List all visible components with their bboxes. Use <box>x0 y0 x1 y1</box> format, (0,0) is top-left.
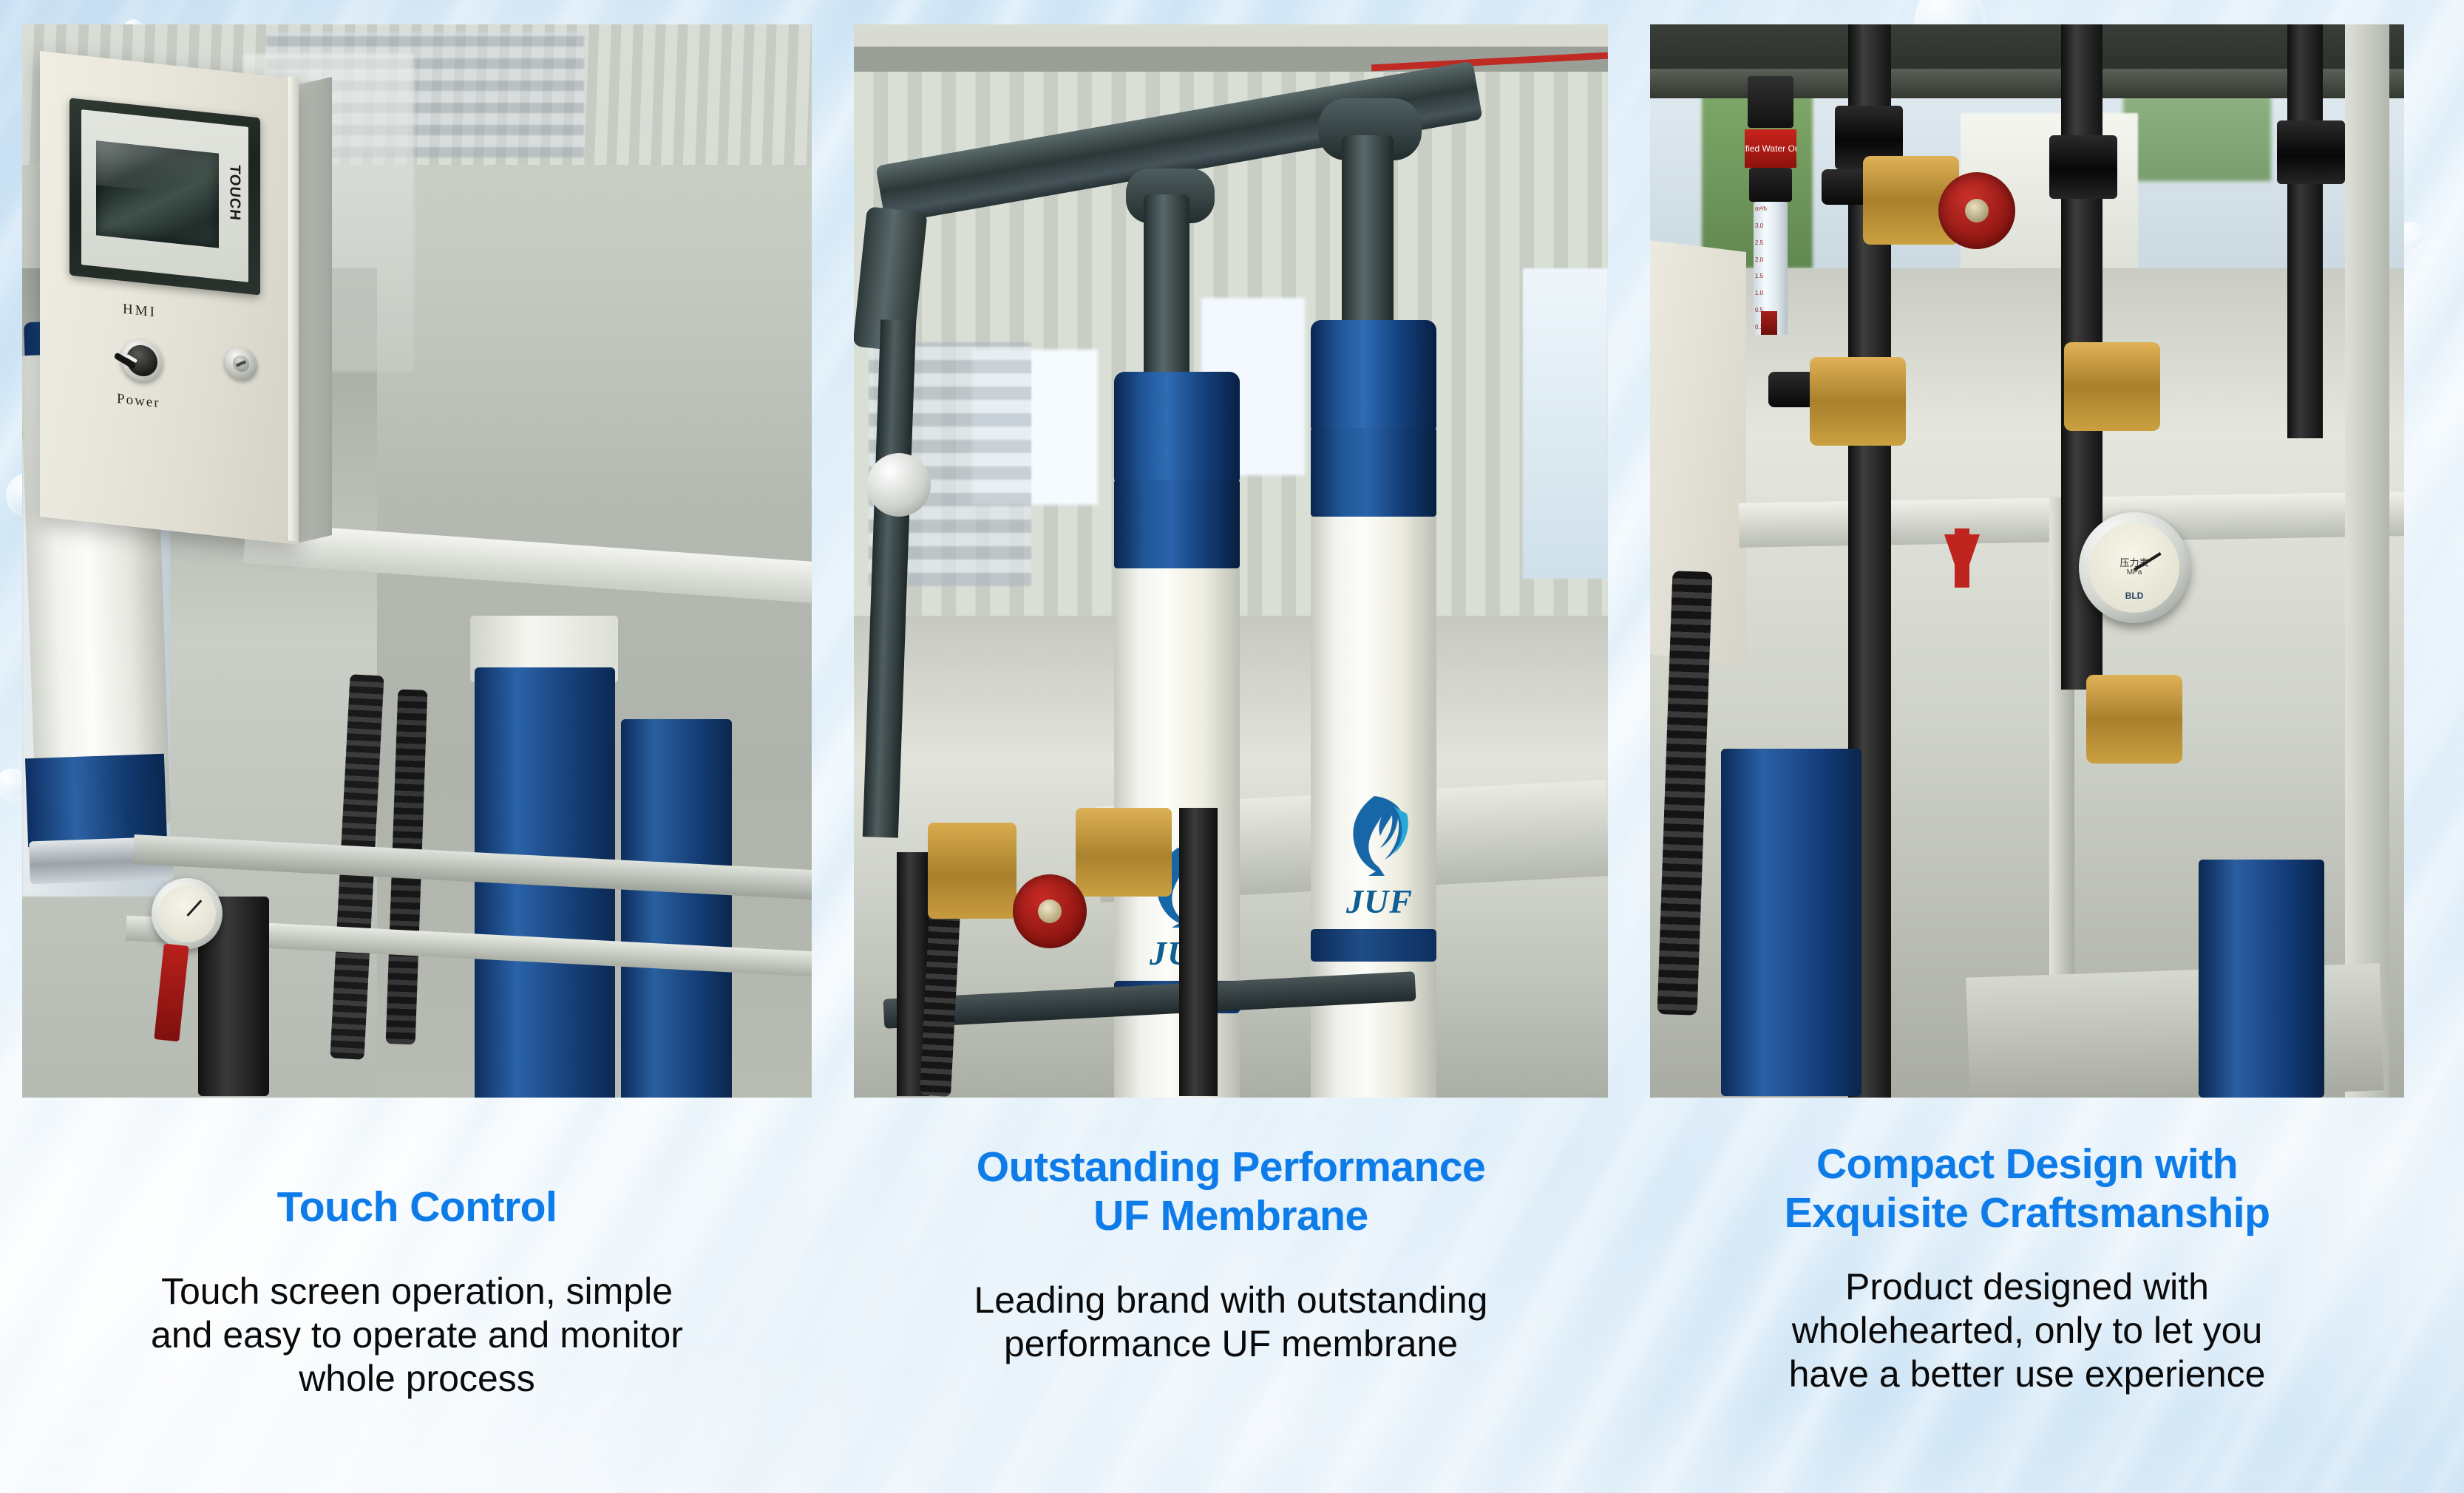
power-knob[interactable] <box>121 338 163 384</box>
touch-tag: TOUCH <box>225 160 244 226</box>
feature-description-line: Touch screen operation, simple <box>22 1270 812 1313</box>
uf-housing-cap <box>1114 372 1240 483</box>
photo1-blue-vessel-secondary <box>621 719 732 1098</box>
uf-brand-logo: JUF <box>1336 793 1417 919</box>
feature-description-line: wholehearted, only to let you <box>1650 1309 2404 1353</box>
power-knob-ring <box>121 338 163 384</box>
cabinet-edge <box>288 76 299 542</box>
feature-title: Touch Control <box>22 1109 812 1231</box>
photo1-pressure-gauge-icon <box>152 878 223 949</box>
feature-title-line: Outstanding Performance <box>854 1143 1608 1191</box>
photo3-green-panel-right <box>2123 92 2271 181</box>
photo-touch-control: TOUCH HMI Power <box>22 24 812 1098</box>
caption-compact-design: Compact Design with Exquisite Craftsmans… <box>1650 1109 2404 1478</box>
hmi-panel-label: HMI <box>123 302 157 322</box>
flame-icon <box>1336 793 1417 882</box>
flow-meter-tick: 2.5 <box>1755 240 1780 246</box>
uf-housing-lower <box>1114 1013 1240 1098</box>
photo3-brass-valve <box>2086 675 2182 763</box>
photo3-rail <box>2345 24 2389 1098</box>
feature-title: Outstanding Performance UF Membrane <box>854 1109 1608 1240</box>
feature-description-line: have a better use experience <box>1650 1353 2404 1396</box>
uf-housing-clamp <box>1311 929 1436 962</box>
photo-compact-design: Purified Water Outlet m³/h 3.0 2.5 2.0 1… <box>1650 24 2404 1098</box>
purified-water-outlet-tag: Purified Water Outlet <box>1745 129 1796 168</box>
feature-title-line: UF Membrane <box>854 1191 1608 1240</box>
feature-description: Product designed with wholehearted, only… <box>1650 1237 2404 1396</box>
flow-meter-float <box>1761 311 1777 335</box>
uf-housing-body: JUF <box>1311 517 1436 931</box>
photo3-pipe-union <box>2277 120 2345 184</box>
photo3-brass-valve <box>1810 357 1906 446</box>
photo3-red-valve-handwheel[interactable] <box>1938 172 2015 249</box>
uf-brand-text: JUF <box>1346 882 1413 921</box>
uf-housing-body: JUF <box>1114 568 1240 982</box>
photo2-pressure-gauge-icon <box>867 453 931 517</box>
flow-direction-arrow-icon <box>1944 534 1980 586</box>
photo2-brass-valve <box>928 823 1017 919</box>
feature-description: Leading brand with outstanding performan… <box>854 1240 1608 1366</box>
photo2-red-valve-handwheel[interactable] <box>1013 874 1087 948</box>
feature-description-line: whole process <box>22 1357 812 1401</box>
feature-title: Compact Design with Exquisite Craftsmans… <box>1650 1109 2404 1237</box>
feature-description-line: performance UF membrane <box>854 1322 1608 1366</box>
pressure-gauge-unit: MPa <box>2089 568 2179 577</box>
pressure-gauge-face: 压力表 MPa BLD <box>2089 523 2179 613</box>
photo-row: TOUCH HMI Power <box>22 24 2406 1098</box>
caption-touch-control: Touch Control Touch screen operation, si… <box>22 1109 812 1478</box>
feature-description: Touch screen operation, simple and easy … <box>22 1231 812 1401</box>
photo3-blue-vessel <box>1721 749 1861 1096</box>
feature-description-line: Leading brand with outstanding <box>854 1279 1608 1322</box>
feature-title-line: Touch Control <box>22 1183 812 1231</box>
photo1-control-cabinet: TOUCH HMI Power <box>40 65 328 531</box>
feature-title-line: Exquisite Craftsmanship <box>1650 1188 2404 1237</box>
feature-description-line: and easy to operate and monitor <box>22 1313 812 1357</box>
pressure-gauge: 压力表 MPa BLD <box>2079 512 2190 623</box>
pressure-gauge-face-label: 压力表 <box>2089 555 2179 569</box>
feature-description-line: Product designed with <box>1650 1265 2404 1309</box>
purified-water-outlet-label: Purified Water Outlet <box>1745 143 1796 154</box>
flow-meter-tick: 1.0 <box>1755 290 1780 296</box>
flow-meter-unit: m³/h <box>1755 206 1780 212</box>
photo-uf-membrane: JUF JUF <box>854 24 1608 1098</box>
uf-housing-collar <box>1311 428 1436 517</box>
uf-housing-collar <box>1114 480 1240 568</box>
flow-meter-nut <box>1749 168 1792 202</box>
touch-tag-label: TOUCH <box>226 164 243 222</box>
caption-uf-membrane: Outstanding Performance UF Membrane Lead… <box>854 1109 1608 1478</box>
hmi-faceplate: TOUCH <box>81 109 248 282</box>
cabinet-side <box>293 77 332 544</box>
feature-panel: TOUCH HMI Power <box>0 0 2464 1493</box>
photo2-black-pipe-secondary <box>1179 808 1218 1096</box>
uf-housing-cap <box>1311 320 1436 431</box>
photo3-black-riser-tertiary <box>2287 24 2323 438</box>
flow-meter: Purified Water Outlet m³/h 3.0 2.5 2.0 1… <box>1748 76 1793 313</box>
pressure-gauge-brand: BLD <box>2089 591 2179 601</box>
photo2-doorway <box>1523 268 1608 579</box>
photo3-pipe-union <box>2049 135 2117 199</box>
feature-title-line: Compact Design with <box>1650 1140 2404 1188</box>
photo2-brass-valve-secondary <box>1076 808 1172 897</box>
flow-meter-tick: 3.0 <box>1755 223 1780 229</box>
flow-meter-cap <box>1748 76 1793 128</box>
flow-meter-tick: 2.0 <box>1755 257 1780 263</box>
photo1-uf-vessel-band <box>25 754 167 847</box>
photo3-blue-vessel-secondary <box>2199 860 2324 1098</box>
photo3-brass-valve <box>2064 342 2160 431</box>
flow-meter-tick: 1.5 <box>1755 273 1780 279</box>
hmi-bezel[interactable]: TOUCH <box>69 98 260 295</box>
caption-row: Touch Control Touch screen operation, si… <box>22 1109 2406 1478</box>
